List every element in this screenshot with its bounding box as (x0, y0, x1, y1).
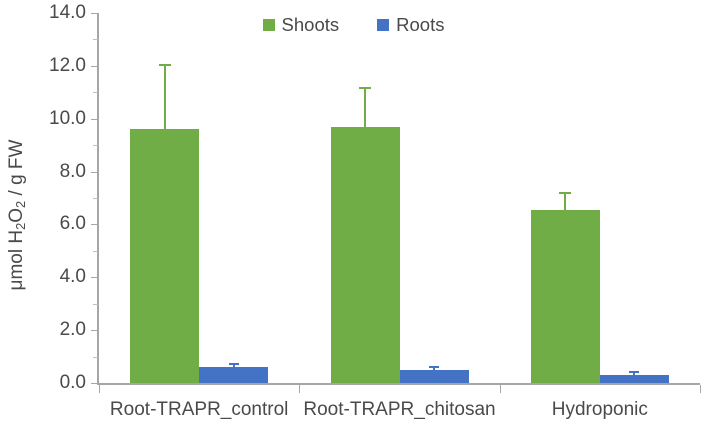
y-axis-title: μmol H2O2 / g FW (0, 0, 34, 430)
y-tick-major (91, 172, 98, 173)
x-axis-line (97, 383, 700, 385)
y-tick-major (91, 224, 98, 225)
x-axis-end-tick (99, 385, 100, 393)
x-category-separator-tick (500, 385, 501, 393)
error-bar-cap (429, 366, 439, 368)
bar (199, 367, 268, 383)
y-axis-title-text: μmol H2O2 / g FW (6, 140, 28, 291)
y-tick-minor (93, 145, 98, 146)
x-category-label: Root-TRAPR_control (110, 399, 288, 421)
y-tick-major (91, 383, 98, 384)
y-tick-major (91, 66, 98, 67)
y-tick-major (91, 277, 98, 278)
error-bar-stem (564, 192, 566, 210)
x-category-label: Root-TRAPR_chitosan (303, 399, 495, 421)
error-bar-stem (164, 64, 166, 129)
y-tick-minor (93, 92, 98, 93)
error-bar-stem (364, 87, 366, 127)
bar (600, 375, 669, 383)
y-tick-minor (93, 304, 98, 305)
y-tick-label: 14.0 (49, 2, 86, 24)
error-bar-cap (229, 363, 239, 365)
bar-chart: Shoots Roots μmol H2O2 / g FW 0.02.04.06… (0, 0, 707, 430)
y-tick-major (91, 330, 98, 331)
bar (400, 370, 469, 383)
error-bar-cap (559, 192, 571, 194)
bar (130, 129, 199, 383)
error-bar-cap (629, 371, 639, 373)
x-axis-end-tick (700, 385, 701, 393)
x-category-label: Hydroponic (552, 399, 648, 421)
y-tick-label: 6.0 (60, 213, 86, 235)
y-tick-major (91, 13, 98, 14)
y-tick-major (91, 119, 98, 120)
y-tick-label: 8.0 (60, 161, 86, 183)
bar (331, 127, 400, 383)
y-tick-minor (93, 357, 98, 358)
y-tick-minor (93, 39, 98, 40)
x-category-separator-tick (299, 385, 300, 393)
y-tick-label: 2.0 (60, 319, 86, 341)
y-tick-minor (93, 198, 98, 199)
y-tick-minor (93, 251, 98, 252)
plot-area: 0.02.04.06.08.010.012.014.0 Root-TRAPR_c… (99, 13, 700, 383)
y-tick-label: 10.0 (49, 108, 86, 130)
y-tick-label: 0.0 (60, 372, 86, 394)
error-bar-cap (359, 87, 371, 89)
y-tick-label: 4.0 (60, 266, 86, 288)
y-tick-label: 12.0 (49, 55, 86, 77)
error-bar-cap (159, 64, 171, 66)
bar (531, 210, 600, 383)
